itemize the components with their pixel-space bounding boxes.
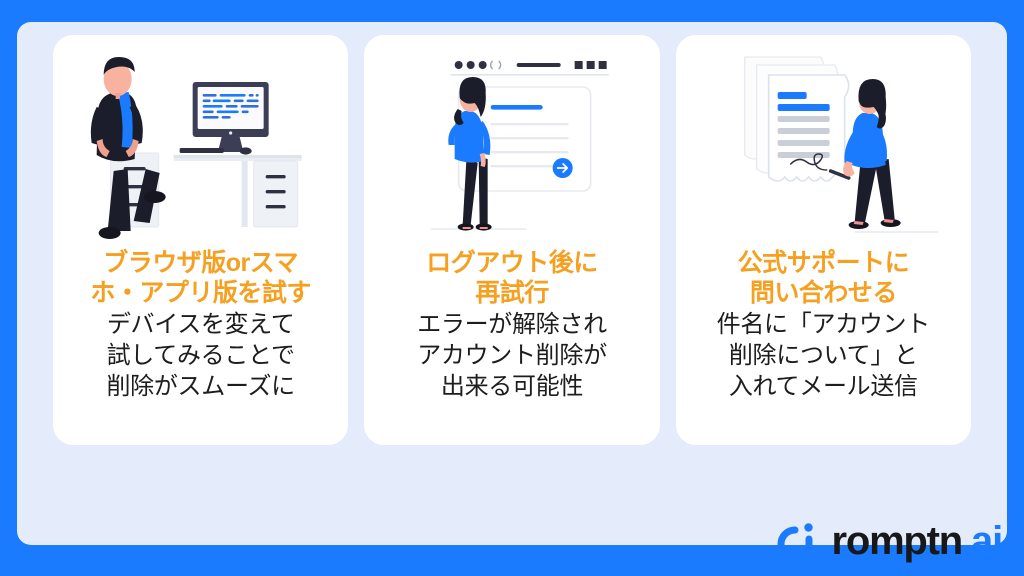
slide-root: ブラウザ版orスマ ホ・アプリ版を試す デバイスを変えて 試してみることで 削除… (0, 0, 1024, 576)
brand-name-blue: ai (971, 521, 1002, 561)
illustration-browser-form (364, 35, 659, 248)
brand-name-dark: romptn (831, 521, 962, 561)
card-3-heading: 公式サポートに 問い合わせる (738, 248, 910, 308)
illustration-document-signing (676, 35, 971, 248)
brand-logo: romptn ai (772, 518, 1002, 564)
browser-form-icon (364, 35, 659, 248)
card-1[interactable]: ブラウザ版orスマ ホ・アプリ版を試す デバイスを変えて 試してみることで 削除… (53, 35, 348, 445)
desk-worker-icon (53, 35, 348, 248)
romptn-a-mark-icon (772, 518, 818, 564)
card-row: ブラウザ版orスマ ホ・アプリ版を試す デバイスを変えて 試してみることで 削除… (53, 35, 971, 445)
brand-wordmark: romptn ai (831, 521, 1002, 561)
browser-dots-icon (455, 61, 501, 69)
card-3-body: 件名に「アカウント 削除について」と 入れてメール送信 (717, 309, 930, 402)
document-signing-icon (676, 35, 971, 248)
card-3[interactable]: 公式サポートに 問い合わせる 件名に「アカウント 削除について」と 入れてメール… (676, 35, 971, 445)
card-1-heading: ブラウザ版orスマ ホ・アプリ版を試す (90, 248, 311, 308)
card-1-text: ブラウザ版orスマ ホ・アプリ版を試す デバイスを変えて 試してみることで 削除… (53, 248, 348, 445)
card-2-heading: ログアウト後に 再試行 (426, 248, 598, 308)
card-2-text: ログアウト後に 再試行 エラーが解除され アカウント削除が 出来る可能性 (364, 248, 659, 445)
card-3-text: 公式サポートに 問い合わせる 件名に「アカウント 削除について」と 入れてメール… (676, 248, 971, 445)
card-1-body: デバイスを変えて 試してみることで 削除がスムーズに (106, 309, 294, 402)
illustration-desk-worker (53, 35, 348, 248)
card-2[interactable]: ログアウト後に 再試行 エラーが解除され アカウント削除が 出来る可能性 (364, 35, 659, 445)
arrow-button-icon (553, 158, 573, 178)
card-2-body: エラーが解除され アカウント削除が 出来る可能性 (417, 309, 607, 402)
